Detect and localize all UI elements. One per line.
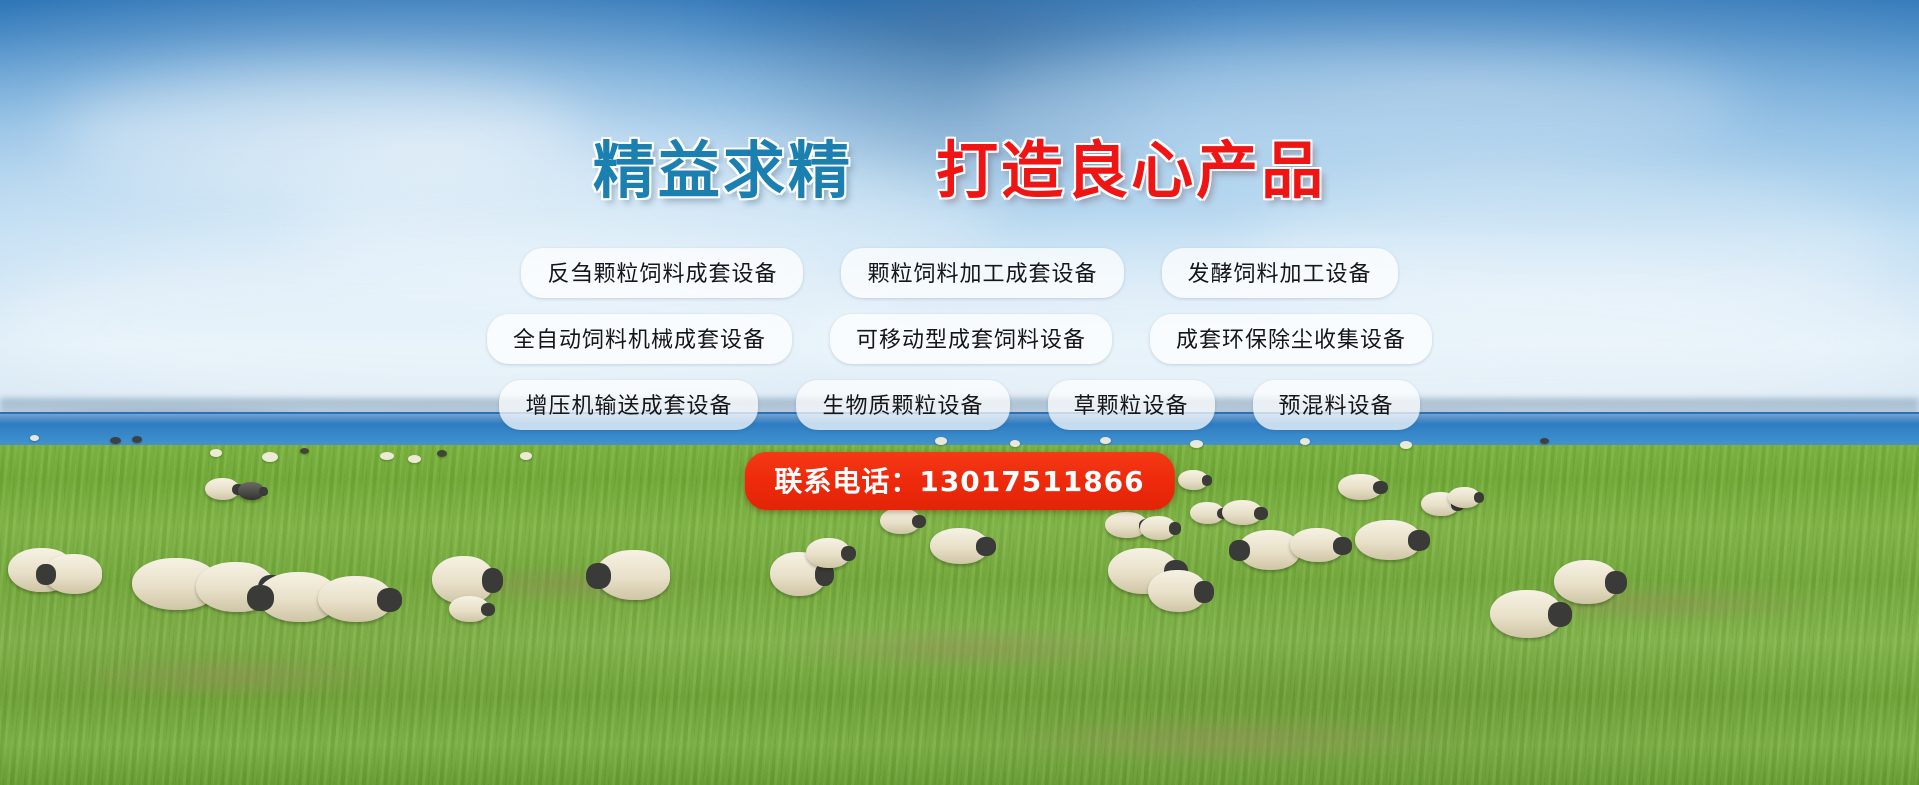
product-pill[interactable]: 反刍颗粒饲料成套设备 bbox=[521, 248, 803, 298]
pill-row-2: 全自动饲料机械成套设备 可移动型成套饲料设备 成套环保除尘收集设备 bbox=[0, 314, 1919, 364]
product-pill[interactable]: 草颗粒设备 bbox=[1048, 380, 1215, 430]
pill-row-3: 增压机输送成套设备 生物质颗粒设备 草颗粒设备 预混料设备 bbox=[0, 380, 1919, 430]
product-pill[interactable]: 成套环保除尘收集设备 bbox=[1150, 314, 1432, 364]
promo-banner: 精益求精 打造良心产品 反刍颗粒饲料成套设备 颗粒饲料加工成套设备 发酵饲料加工… bbox=[0, 0, 1919, 785]
product-pill[interactable]: 颗粒饲料加工成套设备 bbox=[841, 248, 1123, 298]
product-pill[interactable]: 全自动饲料机械成套设备 bbox=[487, 314, 792, 364]
headline-blue-text: 精益求精 bbox=[593, 134, 853, 207]
product-pill[interactable]: 可移动型成套饲料设备 bbox=[830, 314, 1112, 364]
pill-row-1: 反刍颗粒饲料成套设备 颗粒饲料加工成套设备 发酵饲料加工设备 bbox=[0, 248, 1919, 298]
product-pill[interactable]: 生物质颗粒设备 bbox=[796, 380, 1009, 430]
contact-phone-badge[interactable]: 联系电话：13017511866 bbox=[744, 452, 1174, 510]
product-pill[interactable]: 发酵饲料加工设备 bbox=[1162, 248, 1398, 298]
product-pill[interactable]: 增压机输送成套设备 bbox=[499, 380, 758, 430]
product-pill[interactable]: 预混料设备 bbox=[1253, 380, 1420, 430]
banner-overlay-content: 精益求精 打造良心产品 反刍颗粒饲料成套设备 颗粒饲料加工成套设备 发酵饲料加工… bbox=[0, 0, 1919, 785]
product-category-pills: 反刍颗粒饲料成套设备 颗粒饲料加工成套设备 发酵饲料加工设备 全自动饲料机械成套… bbox=[0, 248, 1919, 446]
page-title: 精益求精 打造良心产品 bbox=[0, 140, 1919, 202]
headline-red-text: 打造良心产品 bbox=[936, 134, 1326, 207]
